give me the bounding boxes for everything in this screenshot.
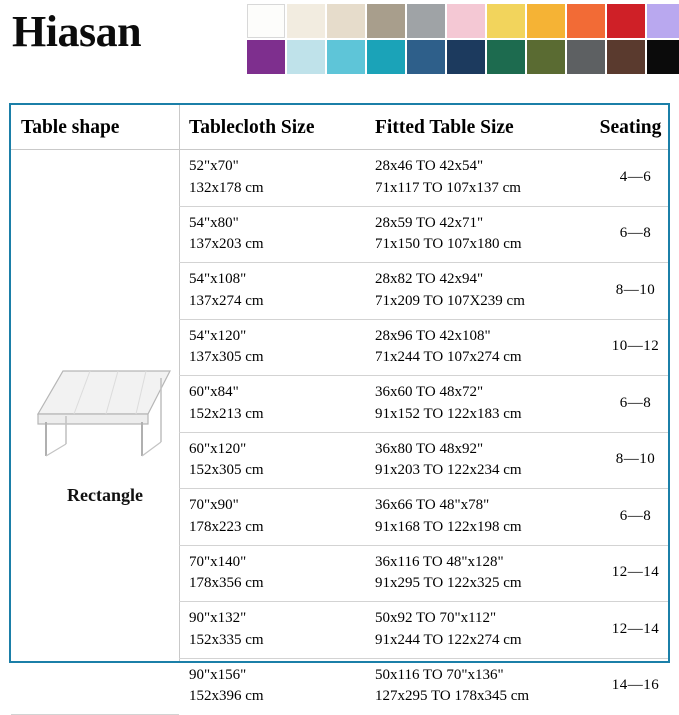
cell-fitted-table-size: 50x92 TO 70"x112" 91x244 TO 122x274 cm: [365, 602, 593, 659]
header-table-shape: Table shape: [11, 105, 179, 150]
fit-size-cm: 71x209 TO 107X239 cm: [375, 291, 593, 313]
cell-tablecloth-size: 52"x70" 132x178 cm: [179, 150, 365, 207]
color-swatch-lavender: [647, 4, 679, 38]
cell-seating: 12—14: [593, 602, 668, 659]
fit-size-cm: 71x244 TO 107x274 cm: [375, 347, 593, 369]
cell-seating: 8—10: [593, 432, 668, 489]
header-fitted-table-size: Fitted Table Size: [365, 105, 593, 150]
cloth-size-cm: 137x203 cm: [189, 234, 365, 256]
color-swatch-dark-grey: [567, 40, 605, 74]
fit-size-inches: 50x92 TO 70"x112": [375, 610, 496, 626]
fit-size-inches: 36x116 TO 48"x128": [375, 554, 504, 570]
color-swatch-hunter-green: [487, 40, 525, 74]
cloth-size-cm: 178x223 cm: [189, 517, 365, 539]
cell-seating: 10—12: [593, 319, 668, 376]
cell-seating: 6—8: [593, 376, 668, 433]
cloth-size-cm: 137x274 cm: [189, 291, 365, 313]
cell-tablecloth-size: 70"x140" 178x356 cm: [179, 545, 365, 602]
fit-size-inches: 36x66 TO 48"x78": [375, 497, 489, 513]
fit-size-inches: 50x116 TO 70"x136": [375, 667, 504, 683]
color-swatch-red: [607, 4, 645, 38]
fit-size-cm: 91x152 TO 122x183 cm: [375, 404, 593, 426]
fit-size-cm: 91x168 TO 122x198 cm: [375, 517, 593, 539]
table-header-row: Table shape Tablecloth Size Fitted Table…: [11, 105, 668, 150]
color-swatch-grid: [247, 4, 679, 74]
cell-seating: 4—6: [593, 150, 668, 207]
size-chart-table: Table shape Tablecloth Size Fitted Table…: [11, 105, 668, 715]
cell-fitted-table-size: 36x60 TO 48x72" 91x152 TO 122x183 cm: [365, 376, 593, 433]
cell-tablecloth-size: 54"x120" 137x305 cm: [179, 319, 365, 376]
cell-seating: 12—14: [593, 545, 668, 602]
cloth-size-inches: 54"x108": [189, 271, 246, 287]
cell-tablecloth-size: 60"x120" 152x305 cm: [179, 432, 365, 489]
cloth-size-inches: 52"x70": [189, 158, 239, 174]
cell-fitted-table-size: 28x96 TO 42x108" 71x244 TO 107x274 cm: [365, 319, 593, 376]
fit-size-cm: 71x117 TO 107x137 cm: [375, 178, 593, 200]
color-swatch-taupe: [367, 4, 405, 38]
table-header: Table shape Tablecloth Size Fitted Table…: [11, 105, 668, 150]
size-chart-card: Table shape Tablecloth Size Fitted Table…: [9, 103, 670, 663]
cell-fitted-table-size: 36x66 TO 48"x78" 91x168 TO 122x198 cm: [365, 489, 593, 546]
cloth-size-cm: 152x335 cm: [189, 630, 365, 652]
color-swatch-grey: [407, 4, 445, 38]
table-row: Rectangle 52"x70" 132x178 cm 28x46 TO 42…: [11, 150, 668, 207]
cloth-size-inches: 90"x156": [189, 667, 246, 683]
brand-logo: Hiasan: [12, 6, 141, 57]
cell-tablecloth-size: 70"x90" 178x223 cm: [179, 489, 365, 546]
cell-seating: 6—8: [593, 206, 668, 263]
fit-size-inches: 28x46 TO 42x54": [375, 158, 483, 174]
cell-fitted-table-size: 28x59 TO 42x71" 71x150 TO 107x180 cm: [365, 206, 593, 263]
color-swatch-white: [247, 4, 285, 38]
color-swatch-dark-navy: [447, 40, 485, 74]
fit-size-inches: 28x59 TO 42x71": [375, 215, 483, 231]
table-body: Rectangle 52"x70" 132x178 cm 28x46 TO 42…: [11, 150, 668, 715]
color-swatch-yellow: [487, 4, 525, 38]
color-swatch-navy-blue: [407, 40, 445, 74]
color-swatch-brown: [607, 40, 645, 74]
header-tablecloth-size: Tablecloth Size: [179, 105, 365, 150]
cloth-size-cm: 152x396 cm: [189, 686, 365, 708]
cell-seating: 14—16: [593, 658, 668, 714]
cloth-size-cm: 137x305 cm: [189, 347, 365, 369]
fit-size-cm: 127x295 TO 178x345 cm: [375, 686, 593, 708]
cloth-size-cm: 132x178 cm: [189, 178, 365, 200]
cloth-size-inches: 54"x80": [189, 215, 239, 231]
fit-size-inches: 28x82 TO 42x94": [375, 271, 483, 287]
shape-label-rectangle: Rectangle: [67, 482, 143, 508]
fit-size-cm: 71x150 TO 107x180 cm: [375, 234, 593, 256]
color-swatch-purple: [247, 40, 285, 74]
cell-seating: 8—10: [593, 263, 668, 320]
shape-wrap: Rectangle: [21, 156, 189, 708]
color-swatch-ivory: [287, 4, 325, 38]
cell-tablecloth-size: 54"x80" 137x203 cm: [179, 206, 365, 263]
color-swatch-beige: [327, 4, 365, 38]
cloth-size-inches: 60"x84": [189, 384, 239, 400]
cloth-size-inches: 90"x132": [189, 610, 246, 626]
fit-size-inches: 36x80 TO 48x92": [375, 441, 483, 457]
cell-tablecloth-size: 54"x108" 137x274 cm: [179, 263, 365, 320]
cloth-size-cm: 178x356 cm: [189, 573, 365, 595]
color-swatch-gold: [527, 4, 565, 38]
header-seating: Seating: [593, 105, 668, 150]
header: Hiasan: [0, 0, 679, 92]
color-swatch-light-blue: [287, 40, 325, 74]
shape-illustration-cell: Rectangle: [11, 150, 179, 715]
cloth-size-cm: 152x213 cm: [189, 404, 365, 426]
color-swatch-orange: [567, 4, 605, 38]
cell-seating: 6—8: [593, 489, 668, 546]
color-swatch-teal: [367, 40, 405, 74]
color-swatch-light-pink: [447, 4, 485, 38]
color-swatch-olive-green: [527, 40, 565, 74]
fit-size-cm: 91x295 TO 122x325 cm: [375, 573, 593, 595]
cell-fitted-table-size: 36x80 TO 48x92" 91x203 TO 122x234 cm: [365, 432, 593, 489]
cloth-size-inches: 60"x120": [189, 441, 246, 457]
cloth-size-inches: 70"x90": [189, 497, 239, 513]
fit-size-inches: 36x60 TO 48x72": [375, 384, 483, 400]
cell-tablecloth-size: 60"x84" 152x213 cm: [179, 376, 365, 433]
fit-size-cm: 91x244 TO 122x274 cm: [375, 630, 593, 652]
cloth-size-inches: 70"x140": [189, 554, 246, 570]
fit-size-inches: 28x96 TO 42x108": [375, 328, 491, 344]
cell-fitted-table-size: 50x116 TO 70"x136" 127x295 TO 178x345 cm: [365, 658, 593, 714]
cell-fitted-table-size: 36x116 TO 48"x128" 91x295 TO 122x325 cm: [365, 545, 593, 602]
cloth-size-cm: 152x305 cm: [189, 460, 365, 482]
cell-tablecloth-size: 90"x156" 152x396 cm: [179, 658, 365, 714]
fit-size-cm: 91x203 TO 122x234 cm: [375, 460, 593, 482]
color-swatch-black: [647, 40, 679, 74]
size-chart-page: Hiasan: [0, 0, 679, 672]
color-swatch-sky-blue: [327, 40, 365, 74]
cell-fitted-table-size: 28x82 TO 42x94" 71x209 TO 107X239 cm: [365, 263, 593, 320]
rectangle-table-icon: [30, 356, 180, 476]
cell-tablecloth-size: 90"x132" 152x335 cm: [179, 602, 365, 659]
cloth-size-inches: 54"x120": [189, 328, 246, 344]
cell-fitted-table-size: 28x46 TO 42x54" 71x117 TO 107x137 cm: [365, 150, 593, 207]
